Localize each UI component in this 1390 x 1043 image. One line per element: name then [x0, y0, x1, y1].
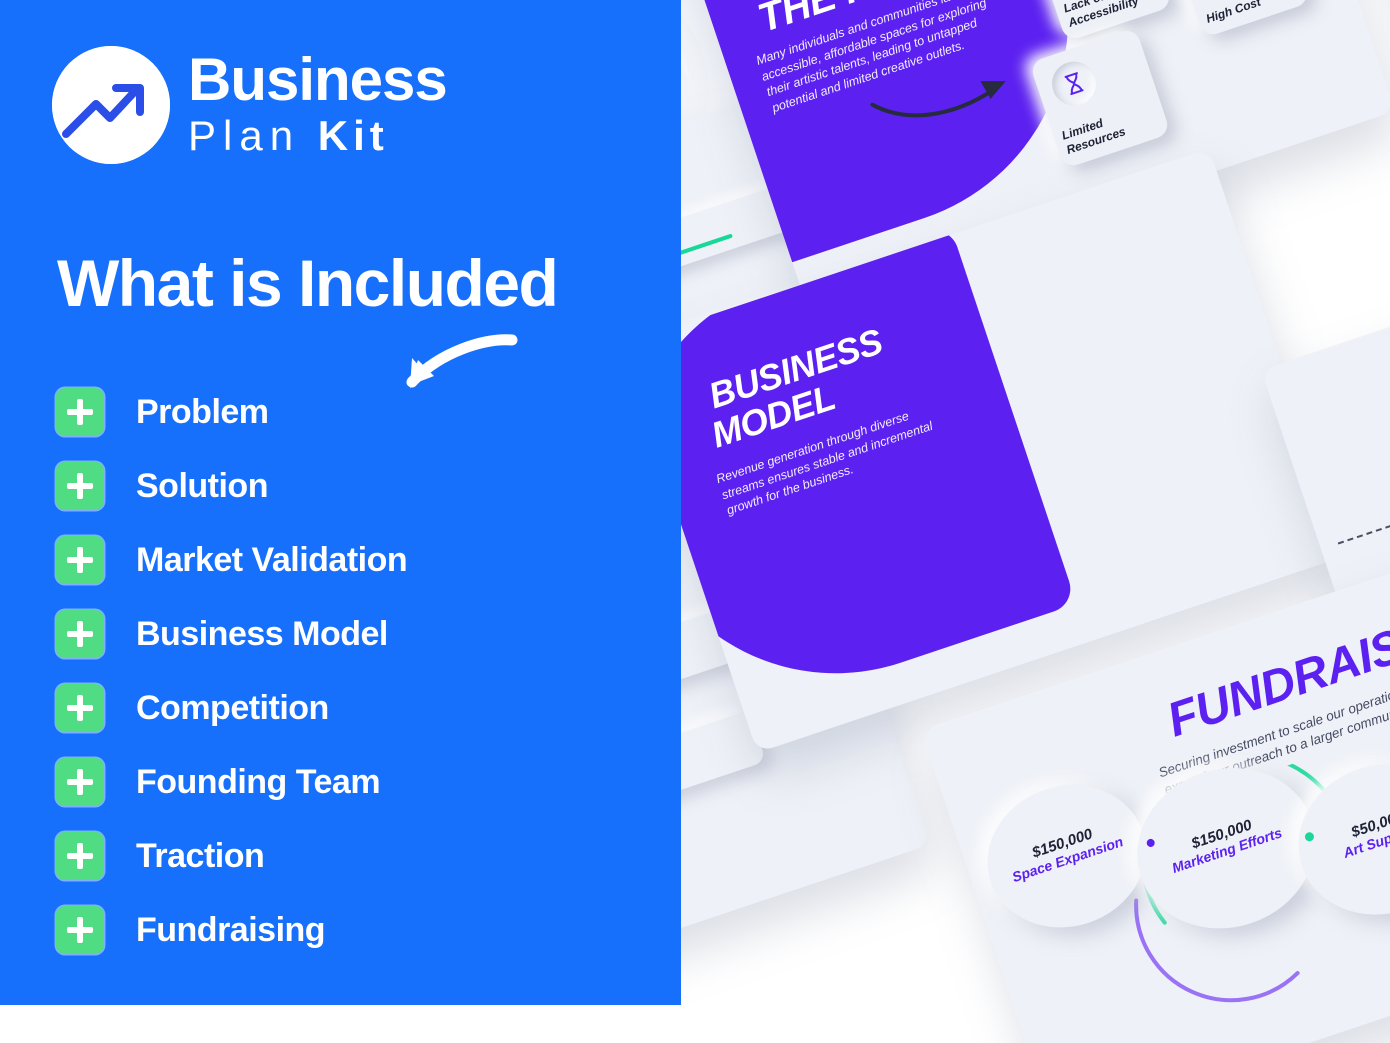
plus-icon — [56, 610, 104, 658]
traction-progress-bar — [681, 234, 733, 308]
left-info-panel: Business Plan Kit What is Included Probl… — [0, 0, 681, 1005]
list-item[interactable]: Traction — [56, 832, 407, 880]
brand-name-primary: Business — [188, 50, 447, 110]
list-item[interactable]: Business Model — [56, 610, 407, 658]
problem-card-label: Lack of Accessibility — [1062, 0, 1164, 30]
plus-icon — [56, 684, 104, 732]
list-item-label: Business Model — [136, 615, 388, 654]
growth-chart-circle-icon — [52, 46, 170, 164]
page-title: What is Included — [57, 250, 557, 316]
deck-stage: Drop-in Fees Creative Education Workshop… — [681, 0, 1390, 1043]
list-item-label: Competition — [136, 689, 329, 728]
curved-arrow-down-left-icon — [388, 330, 518, 410]
brand-wordmark: Business Plan Kit — [188, 50, 447, 160]
list-item[interactable]: Problem — [56, 388, 407, 436]
brand-name-plan: Plan — [188, 112, 300, 159]
problem-card-label: High Cost — [1204, 0, 1302, 26]
list-item-label: Solution — [136, 467, 268, 506]
dashed-connector — [1338, 515, 1390, 544]
plus-icon — [56, 462, 104, 510]
list-item-label: Problem — [136, 393, 269, 432]
list-item-label: Founding Team — [136, 763, 380, 802]
brand-name-secondary: Plan Kit — [188, 112, 447, 160]
hourglass-icon — [1046, 56, 1102, 112]
list-item-label: Traction — [136, 837, 264, 876]
plus-icon — [56, 832, 104, 880]
list-item[interactable]: Founding Team — [56, 758, 407, 806]
list-item[interactable]: Market Validation — [56, 536, 407, 584]
plus-icon — [56, 906, 104, 954]
plus-icon — [56, 536, 104, 584]
plus-icon — [56, 758, 104, 806]
brand-name-kit: Kit — [318, 112, 389, 159]
brand-logo: Business Plan Kit — [52, 46, 447, 164]
plus-icon — [56, 388, 104, 436]
problem-card[interactable]: High Cost — [1169, 0, 1311, 38]
included-items-list: Problem Solution Market Validation Busin… — [56, 388, 407, 980]
list-item[interactable]: Solution — [56, 462, 407, 510]
problem-card-label: Limited Resources — [1060, 99, 1162, 157]
list-item-label: Fundraising — [136, 911, 325, 950]
list-item-label: Market Validation — [136, 541, 407, 580]
slide-deck-preview: Drop-in Fees Creative Education Workshop… — [681, 0, 1390, 1043]
list-item[interactable]: Fundraising — [56, 906, 407, 954]
list-item[interactable]: Competition — [56, 684, 407, 732]
